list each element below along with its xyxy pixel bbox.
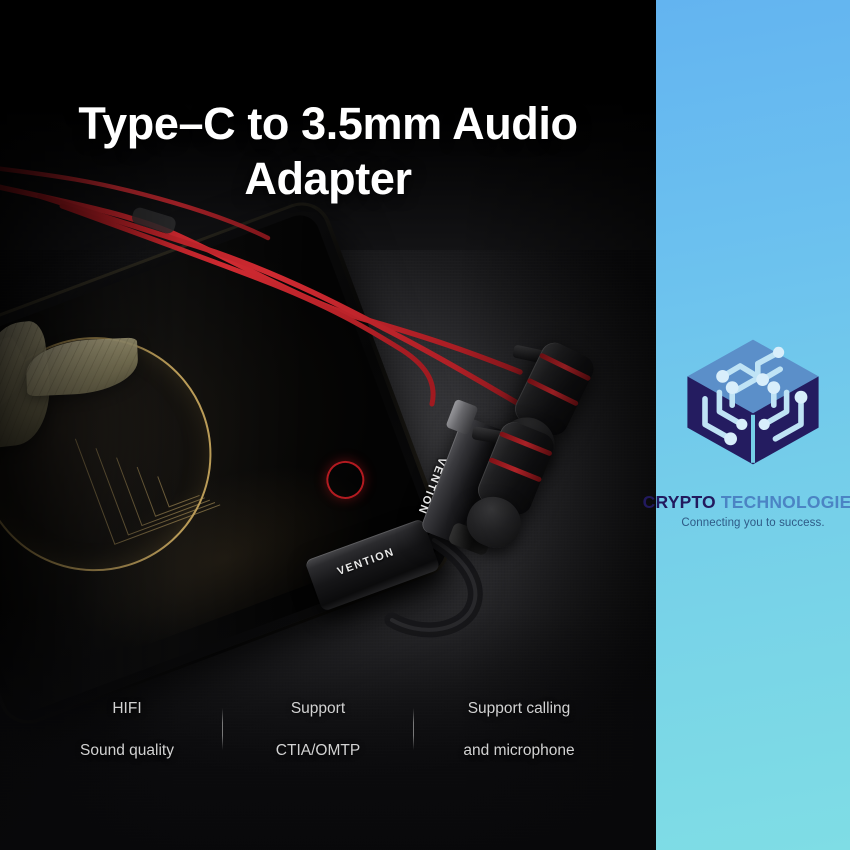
feature-line-2: Sound quality	[32, 740, 222, 761]
feature-line-1: HIFI	[32, 698, 222, 719]
feature-line-1: Support calling	[414, 698, 624, 719]
feature-item-hifi: HIFI Sound quality	[32, 677, 222, 782]
company-tagline: Connecting you to success.	[681, 517, 824, 529]
feature-line-2: and microphone	[414, 740, 624, 761]
feature-item-ctia-omtp: Support CTIA/OMTP	[223, 677, 413, 782]
product-banner: VENTION VENTION Type–C to 3.5mm A	[0, 0, 850, 850]
company-name-secondary: TECHNOLOGIES	[716, 492, 850, 512]
feature-item-calling-mic: Support calling and microphone	[414, 677, 624, 782]
feature-line-2: CTIA/OMTP	[223, 740, 413, 761]
company-name: CRYPTO TECHNOLOGIES	[643, 494, 850, 512]
isometric-circuit-cube-icon	[673, 322, 833, 482]
company-name-primary: CRYPTO	[643, 492, 716, 512]
feature-strip: HIFI Sound quality Support CTIA/OMTP Sup…	[0, 700, 656, 758]
feature-line-1: Support	[223, 698, 413, 719]
product-title: Type–C to 3.5mm Audio Adapter	[0, 96, 656, 206]
brand-panel: CRYPTO TECHNOLOGIES Connecting you to su…	[656, 0, 850, 850]
product-photo-panel: VENTION VENTION Type–C to 3.5mm A	[0, 0, 656, 850]
company-logo: CRYPTO TECHNOLOGIES Connecting you to su…	[656, 322, 850, 529]
product-title-line-2: Adapter	[0, 151, 656, 206]
product-title-line-1: Type–C to 3.5mm Audio	[0, 96, 656, 151]
